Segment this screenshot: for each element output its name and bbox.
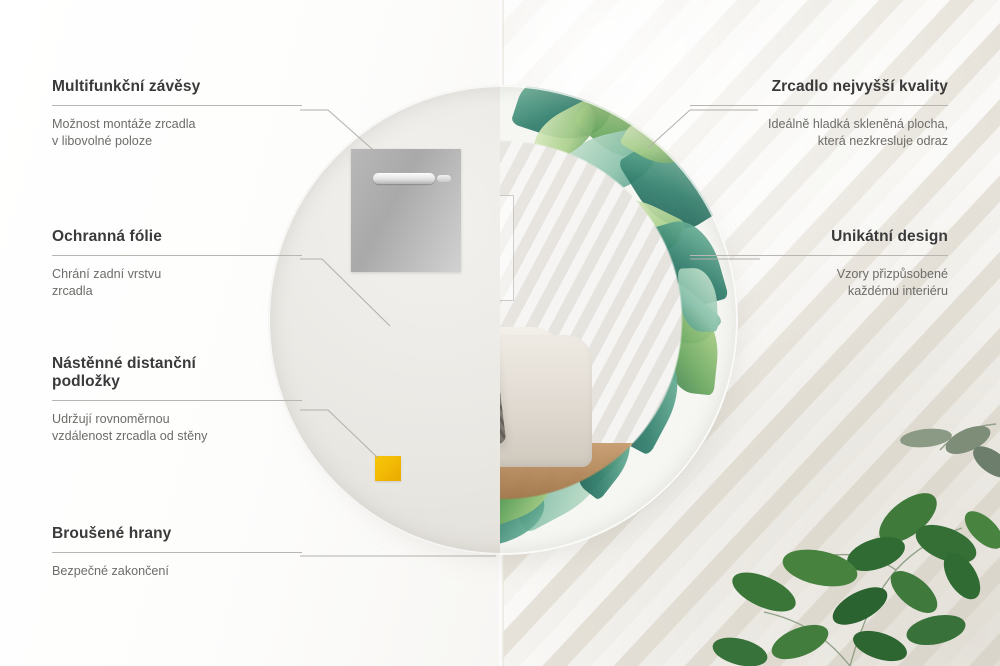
hanger-slot — [373, 173, 435, 184]
callout-body-line2: která nezkresluje odraz — [690, 133, 948, 150]
callout-unique-design: Unikátní design Vzory přizpůsobené každé… — [690, 228, 948, 300]
callout-rule — [52, 400, 302, 401]
foliage-overlay — [700, 330, 1000, 666]
hanger-bracket — [351, 149, 461, 272]
mirror-product — [268, 85, 738, 555]
callout-multifunctional-hangers: Multifunkční závěsy Možnost montáže zrca… — [52, 78, 302, 150]
infographic-stage: Multifunkční závěsy Možnost montáže zrca… — [0, 0, 1000, 666]
callout-rule — [52, 105, 302, 106]
callout-body-line2: v libovolné poloze — [52, 133, 302, 150]
callout-body-line1: Chrání zadní vrstvu — [52, 266, 302, 283]
callout-title: Zrcadlo nejvyšší kvality — [690, 78, 948, 96]
callout-rule — [690, 255, 948, 256]
spacer-pad — [375, 456, 401, 481]
callout-wall-spacers: Nástěnné distanční podložky Udržují rovn… — [52, 355, 302, 445]
callout-title-line1: Nástěnné distanční — [52, 355, 302, 373]
callout-rule — [690, 105, 948, 106]
callout-title: Unikátní design — [690, 228, 948, 246]
callout-body-line2: vzdálenost zrcadla od stěny — [52, 428, 302, 445]
callout-rule — [52, 552, 302, 553]
callout-title: Ochranná fólie — [52, 228, 302, 246]
callout-protective-film: Ochranná fólie Chrání zadní vrstvu zrcad… — [52, 228, 302, 300]
callout-body-line2: zrcadla — [52, 283, 302, 300]
mirror-bevel-edge — [268, 85, 738, 555]
callout-title-line2: podložky — [52, 373, 302, 391]
callout-body-line2: každému interiéru — [690, 283, 948, 300]
callout-body-line1: Možnost montáže zrcadla — [52, 116, 302, 133]
callout-body-line1: Bezpečné zakončení — [52, 563, 302, 580]
callout-title: Multifunkční závěsy — [52, 78, 302, 96]
callout-body-line1: Udržují rovnoměrnou — [52, 411, 302, 428]
mirror-disc — [268, 85, 738, 555]
callout-top-quality-mirror: Zrcadlo nejvyšší kvality Ideálně hladká … — [690, 78, 948, 150]
callout-body-line1: Ideálně hladká skleněná plocha, — [690, 116, 948, 133]
callout-polished-edges: Broušené hrany Bezpečné zakončení — [52, 525, 302, 580]
callout-title: Broušené hrany — [52, 525, 302, 543]
callout-rule — [52, 255, 302, 256]
callout-body-line1: Vzory přizpůsobené — [690, 266, 948, 283]
